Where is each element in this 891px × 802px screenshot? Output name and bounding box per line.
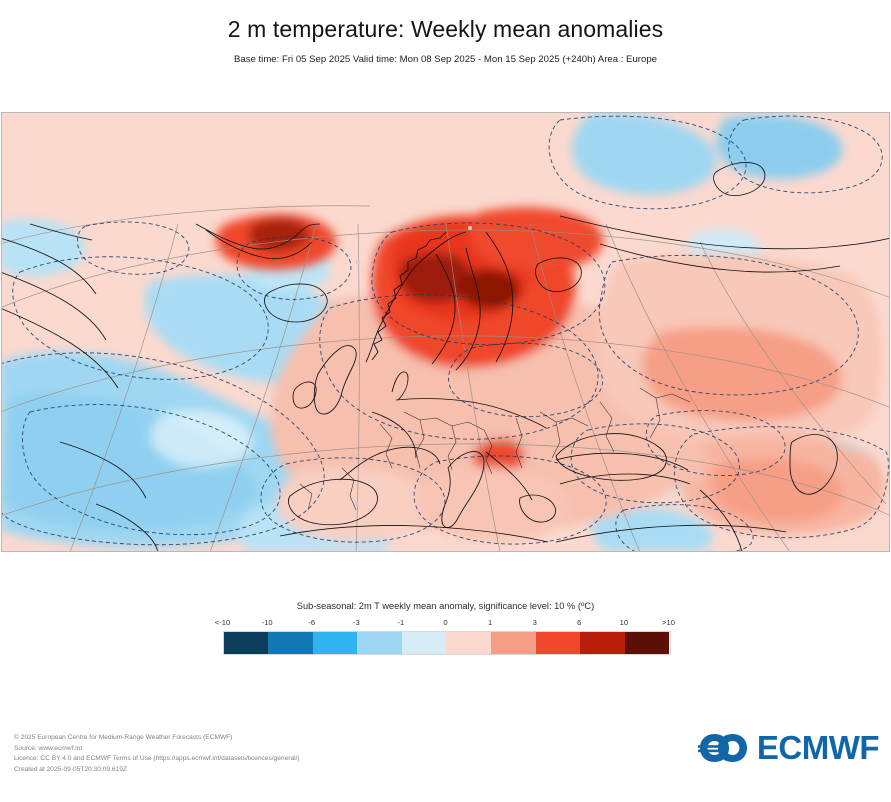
ecmwf-logo[interactable]: ECMWF [698,731,879,765]
ecmwf-logo-text: ECMWF [757,731,879,765]
legend-tick-label: -3 [353,618,360,628]
credits-block: © 2025 European Centre for Medium-Range … [14,733,300,775]
page-subtitle: Base time: Fri 05 Sep 2025 Valid time: M… [0,54,891,66]
legend-tick-label: >10 [662,618,675,628]
legend-swatch [268,632,313,654]
legend-caption: Sub-seasonal: 2m T weekly mean anomaly, … [0,600,891,612]
legend-tick-label: 3 [533,618,537,628]
legend-tick-label: 0 [443,618,447,628]
header: 2 m temperature: Weekly mean anomalies B… [0,0,891,66]
credit-line-licence: Licence: CC BY 4.0 and ECMWF Terms of Us… [14,754,300,765]
credit-line-created: Created at 2025-09-05T20:30:09.619Z [14,765,300,776]
legend-tick-labels: <-10-10-6-3-1013610>10 [223,618,669,631]
legend-swatch [402,632,447,654]
map-panel[interactable] [0,112,891,552]
legend-tick-label: <-10 [215,618,230,628]
legend-tick-label: -6 [308,618,315,628]
legend-tick-label: 1 [488,618,492,628]
page-title: 2 m temperature: Weekly mean anomalies [0,14,891,44]
legend-scale: <-10-10-6-3-1013610>10 [223,618,669,655]
legend-tick-label: -1 [398,618,405,628]
footer: © 2025 European Centre for Medium-Range … [0,725,891,795]
ecmwf-logo-icon [698,731,750,765]
credit-line-copyright: © 2025 European Centre for Medium-Range … [14,733,300,744]
legend-swatch [313,632,358,654]
anomaly-map[interactable] [0,112,891,552]
credit-line-source: Source: www.ecmwf.int [14,744,300,755]
legend-tick-label: 10 [620,618,628,628]
legend-swatch [224,632,269,654]
legend-swatch [357,632,402,654]
legend-swatch [446,632,491,654]
legend-swatch [536,632,581,654]
legend-swatch [625,632,670,654]
legend-colorbar [223,631,671,655]
legend-swatch [491,632,536,654]
legend: Sub-seasonal: 2m T weekly mean anomaly, … [0,600,891,655]
legend-swatch [580,632,625,654]
legend-tick-label: -10 [262,618,273,628]
legend-tick-label: 6 [577,618,581,628]
